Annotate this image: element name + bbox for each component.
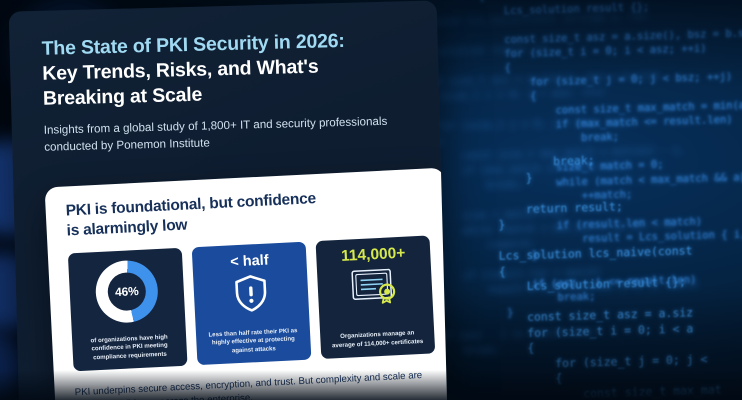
stats-card-body: PKI is foundational, but confidence is a… [45, 168, 448, 373]
page-title: The State of PKI Security in 2026: Key T… [41, 27, 413, 112]
code-background-bottom-layer: break; } return result; } Lcs_solution l… [498, 144, 742, 400]
certificate-seal-icon [350, 267, 400, 305]
shield-alert-icon [233, 274, 269, 314]
stat-card-headline: 114,000+ [341, 246, 406, 265]
stats-card-heading: PKI is foundational, but confidence is a… [65, 184, 429, 242]
stats-card: PKI is foundational, but confidence is a… [45, 168, 448, 400]
stat-card-note: Less than half rate their PKI as highly … [203, 327, 304, 358]
stats-card-footer: PKI underpins secure access, encryption,… [74, 368, 439, 400]
stats-card-heading-line-1: PKI is foundational, but confidence [65, 190, 316, 219]
hero-slide-panel: The State of PKI Security in 2026: Key T… [9, 0, 448, 400]
stat-card-certificate-volume: 114,000+ [316, 235, 436, 359]
donut-chart: 46% [94, 259, 159, 324]
stat-card-headline: < half [230, 253, 269, 271]
donut-chart-value: 46% [115, 284, 139, 299]
stat-card-row: 46% of organizations have high confidenc… [68, 235, 435, 371]
screenshot-root: Lcs_solution lcs_naive(const string& a, … [0, 0, 742, 400]
stat-card-note: Organizations manage an average of 114,0… [327, 329, 428, 352]
stat-card-compliance-confidence: 46% of organizations have high confidenc… [68, 248, 188, 372]
stats-card-heading-line-2: is alarmingly low [66, 217, 187, 240]
hero-section: The State of PKI Security in 2026: Key T… [9, 0, 441, 156]
page-subtitle: Insights from a global study of 1,800+ I… [44, 114, 395, 156]
stat-card-note: of organizations have high confidence in… [79, 333, 180, 364]
stat-card-pki-effectiveness: < half Less than half rate their PKI as … [192, 242, 312, 366]
